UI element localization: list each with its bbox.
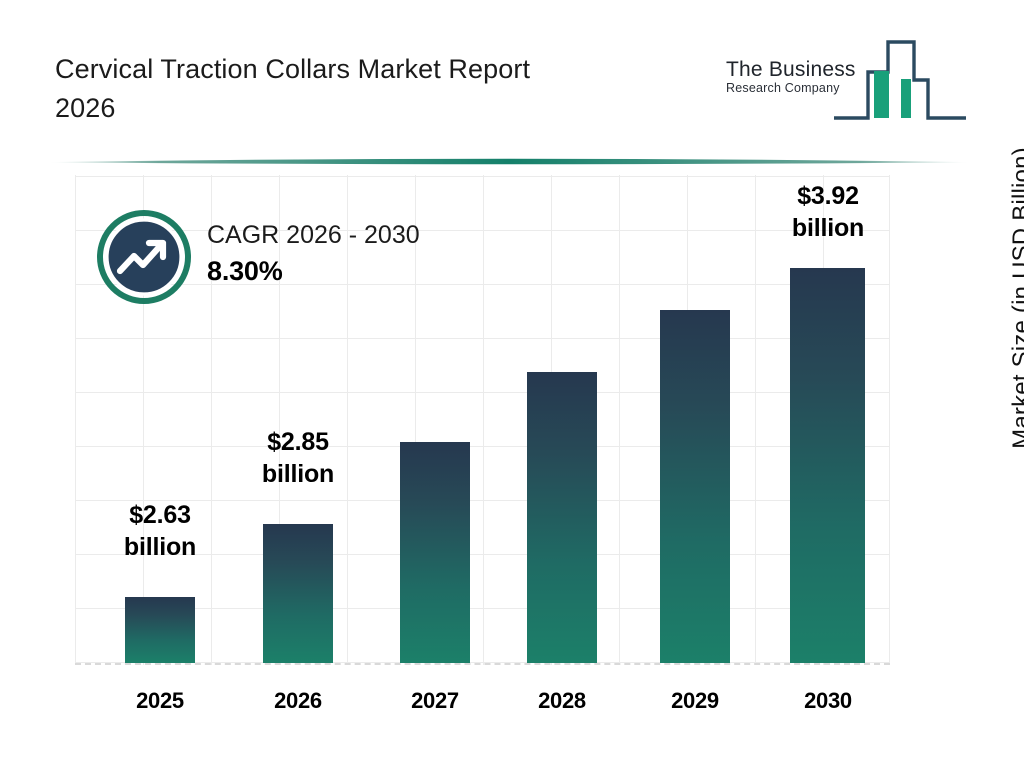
value-label-2030-amount: $3.92 <box>772 180 884 212</box>
page-title: Cervical Traction Collars Market Report … <box>55 50 675 128</box>
value-label-2026: $2.85 billion <box>243 426 353 490</box>
x-tick-2027: 2027 <box>380 688 490 714</box>
bar-2026[interactable] <box>263 524 333 663</box>
value-label-2030-unit: billion <box>772 212 884 244</box>
trending-up-arrow-icon <box>97 210 191 304</box>
cagr-value-label: 8.30% <box>207 252 420 290</box>
bar-2028[interactable] <box>527 372 597 663</box>
bar-2025[interactable] <box>125 597 195 663</box>
x-tick-2029: 2029 <box>640 688 750 714</box>
bar-2029[interactable] <box>660 310 730 663</box>
bar-2030[interactable] <box>790 268 865 663</box>
page-title-line-1: Cervical Traction Collars Market Report <box>55 50 675 89</box>
x-tick-2025: 2025 <box>105 688 215 714</box>
bar-2027[interactable] <box>400 442 470 663</box>
chart-baseline <box>75 663 890 665</box>
chart-canvas: Cervical Traction Collars Market Report … <box>0 0 1024 768</box>
skyline-bars-logo-icon <box>832 32 968 128</box>
value-label-2026-unit: billion <box>243 458 353 490</box>
page-title-line-2: 2026 <box>55 89 675 128</box>
cagr-text: CAGR 2026 - 2030 8.30% <box>207 218 420 290</box>
x-tick-2028: 2028 <box>507 688 617 714</box>
header-divider <box>48 152 970 172</box>
value-label-2025: $2.63 billion <box>105 499 215 563</box>
value-label-2025-unit: billion <box>105 531 215 563</box>
value-label-2026-amount: $2.85 <box>243 426 353 458</box>
value-label-2025-amount: $2.63 <box>105 499 215 531</box>
company-logo: The Business Research Company <box>722 32 970 128</box>
value-label-2030: $3.92 billion <box>772 180 884 244</box>
y-axis-title: Market Size (in USD Billion) <box>1008 118 1024 478</box>
cagr-callout: CAGR 2026 - 2030 8.30% <box>97 210 497 306</box>
cagr-range-label: CAGR 2026 - 2030 <box>207 218 420 252</box>
x-tick-2030: 2030 <box>772 688 884 714</box>
x-tick-2026: 2026 <box>243 688 353 714</box>
